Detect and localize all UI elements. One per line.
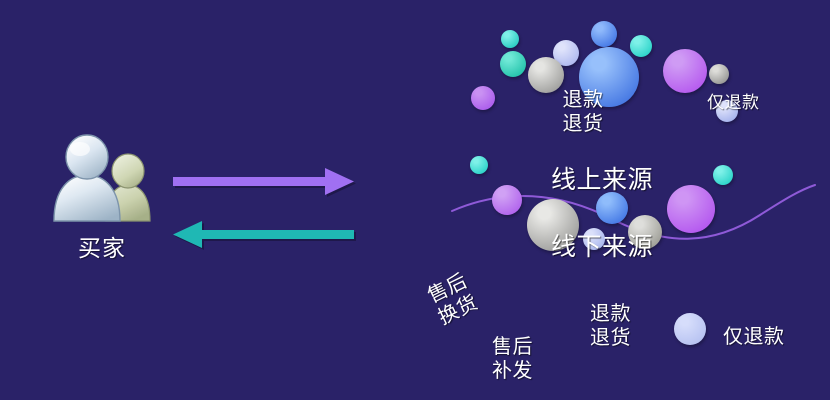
bubble-cyan-small-2: [630, 35, 652, 57]
bubble-violet-top-left: [471, 86, 495, 110]
label-aftersale-exchange: 售后 换货: [424, 269, 482, 329]
bubble-grey-top: [528, 57, 564, 93]
bubble-legend-refund-only: [674, 313, 706, 345]
bubble-violet-wave-right: [667, 185, 715, 233]
buyer-label: 买家: [48, 229, 156, 263]
bubble-periwinkle-1: [553, 40, 579, 66]
bubble-cyan-small-1: [501, 30, 519, 48]
label-refund-only-top: 仅退款: [707, 93, 760, 113]
two-people-icon: [48, 133, 156, 225]
bubble-cyan-mid-right: [713, 165, 733, 185]
label-refund-return-top: 退款 退货: [563, 88, 604, 135]
bubble-blue-wave: [596, 192, 628, 224]
label-offline-source: 线下来源: [551, 232, 653, 262]
arrow-back[interactable]: [172, 219, 362, 253]
bubble-grey-right: [709, 64, 729, 84]
buyer-group[interactable]: 买家: [48, 133, 168, 263]
bubble-blue-top: [591, 21, 617, 47]
bubble-violet-wave-left: [492, 185, 522, 215]
bubble-violet-top-right: [663, 49, 707, 93]
label-online-source: 线上来源: [551, 165, 653, 195]
label-refund-only-bot: 仅退款: [723, 325, 785, 349]
label-aftersale-reissue: 售后 补发: [492, 335, 533, 382]
label-refund-return-bot: 退款 退货: [590, 302, 631, 349]
bubble-cyan-mid-left: [470, 156, 488, 174]
bubble-teal-left: [500, 51, 526, 77]
diagram-canvas: 买家 退款 退货仅退款线上来源线下来源售后 换货售后 补发退款 退货仅退款: [0, 0, 830, 400]
arrow-forward[interactable]: [172, 166, 362, 200]
